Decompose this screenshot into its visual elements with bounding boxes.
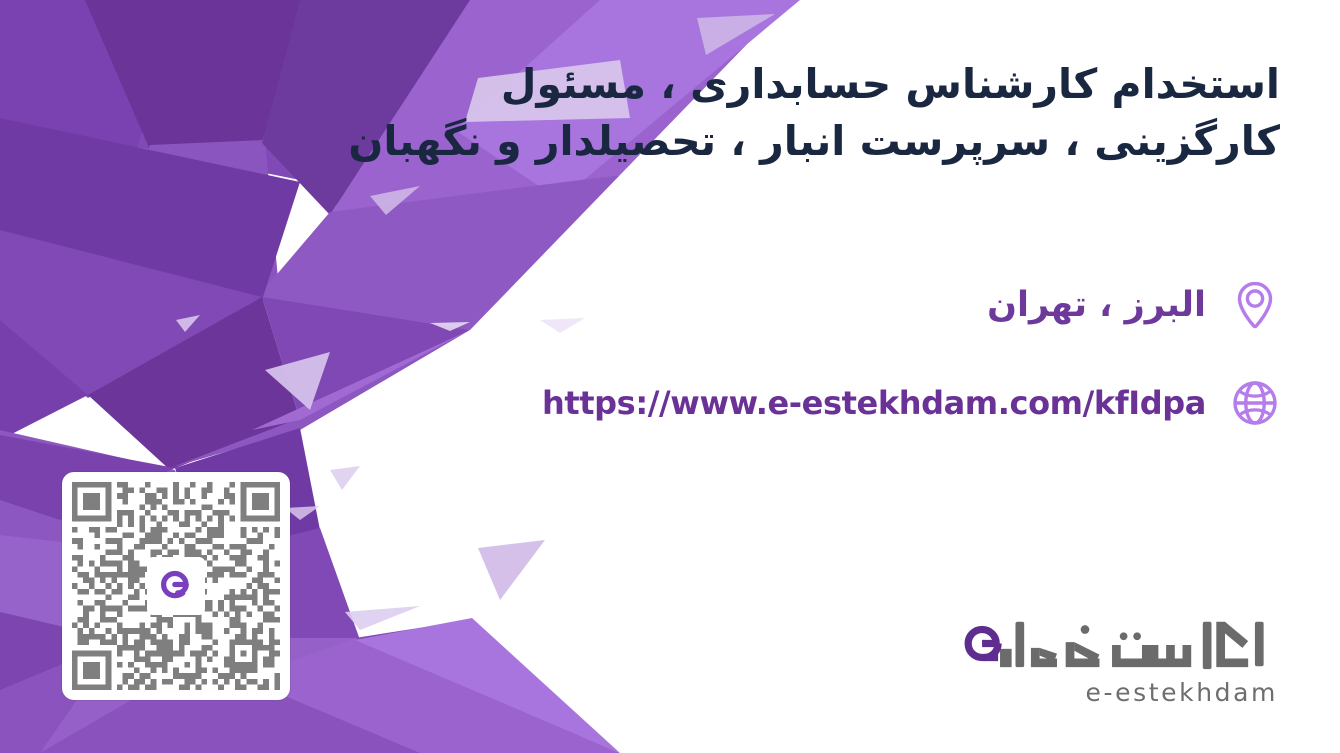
- map-pin-icon: [1228, 277, 1282, 333]
- location-row: البرز ، تهران: [987, 277, 1282, 333]
- page-title: استخدام کارشناس حسابداری ، مسئول کارگزین…: [280, 56, 1280, 171]
- location-value: البرز ، تهران: [987, 288, 1206, 323]
- headline-line-1: استخدام کارشناس حسابداری ، مسئول: [280, 56, 1280, 113]
- brand-latin-name: e-estekhdam: [948, 678, 1278, 707]
- globe-icon: [1228, 375, 1282, 431]
- qr-center-logo: [147, 557, 205, 615]
- brand-wordmark: [948, 616, 1278, 672]
- headline-line-2: کارگزینی ، سرپرست انبار ، تحصیلدار و نگه…: [280, 113, 1280, 170]
- job-ad-card: استخدام کارشناس حسابداری ، مسئول کارگزین…: [0, 0, 1340, 753]
- qr-code[interactable]: [62, 472, 290, 700]
- brand-logo: e-estekhdam: [948, 616, 1278, 722]
- website-row[interactable]: https://www.e-estekhdam.com/kfIdpa: [542, 375, 1282, 431]
- website-url[interactable]: https://www.e-estekhdam.com/kfIdpa: [542, 387, 1206, 419]
